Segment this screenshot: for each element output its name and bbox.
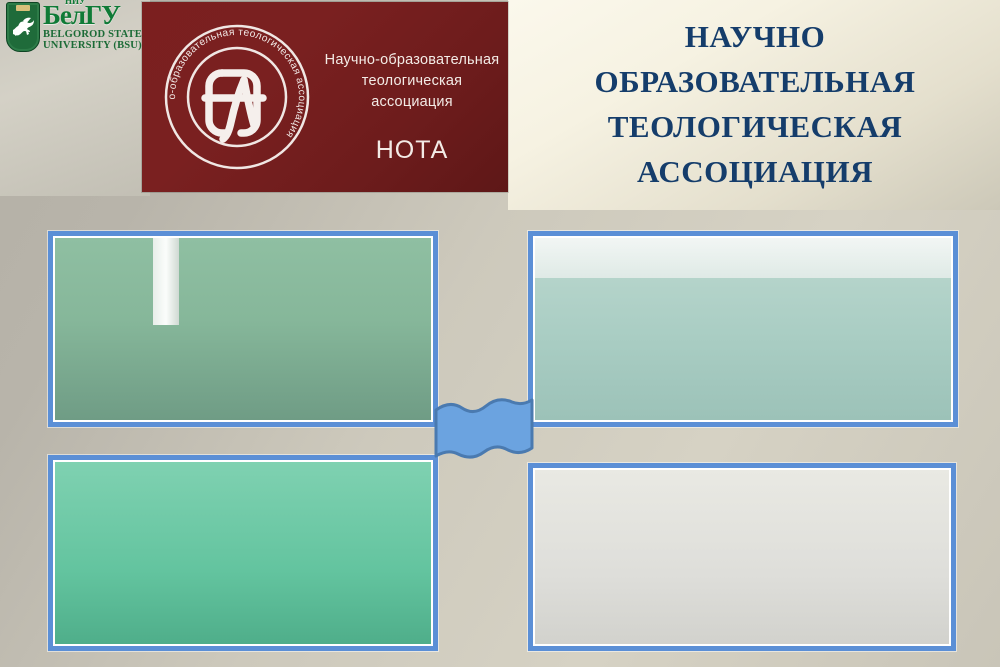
photo-auditorium-audience: FOR bbox=[48, 231, 438, 427]
bsu-english-line-1: BELGOROD STATE bbox=[43, 29, 142, 40]
shield-icon bbox=[6, 2, 40, 52]
photo-group-in-hall bbox=[528, 231, 958, 427]
bsu-english-line-2: UNIVERSITY (BSU) bbox=[43, 40, 142, 51]
bsu-short-name: НИУ БелГУ bbox=[43, 2, 142, 29]
photo-round-table-image bbox=[55, 462, 431, 644]
title-line-2: ОБРАЗОВАТЕЛЬНАЯ bbox=[512, 59, 998, 104]
photo-classroom-group-image: И.о. зав. каф. bbox=[535, 470, 949, 644]
photo-round-table bbox=[48, 455, 438, 651]
nota-line-2: теологическая ассоциация bbox=[322, 71, 502, 113]
blue-wave-flag-ornament bbox=[432, 396, 536, 470]
title-line-4: АССОЦИАЦИЯ bbox=[512, 149, 998, 194]
bsu-niu-label: НИУ bbox=[65, 0, 86, 6]
nota-abbreviation: НОТА bbox=[322, 135, 502, 165]
photo-group-in-hall-image bbox=[535, 238, 951, 420]
nota-text-block: Научно-образовательная теологическая асс… bbox=[322, 50, 502, 165]
slide-canvas: НИУ БелГУ BELGOROD STATE UNIVERSITY (BSU… bbox=[0, 0, 1000, 667]
nota-banner: Научно-образовательная теологическая асс… bbox=[142, 2, 508, 192]
pegasus-icon bbox=[10, 13, 36, 39]
belgorod-state-university-logo: НИУ БелГУ BELGOROD STATE UNIVERSITY (BSU… bbox=[6, 2, 148, 54]
page-title: НАУЧНО ОБРАЗОВАТЕЛЬНАЯ ТЕОЛОГИЧЕСКАЯ АСС… bbox=[512, 14, 998, 194]
title-line-1: НАУЧНО bbox=[512, 14, 998, 59]
nota-line-1: Научно-образовательная bbox=[322, 50, 502, 71]
nota-emblem-icon: Научно-образовательная теологическая асс… bbox=[160, 20, 314, 174]
photo-auditorium-audience-image: FOR bbox=[55, 238, 431, 420]
crown-icon bbox=[16, 5, 30, 11]
photo-classroom-group: И.о. зав. каф. bbox=[528, 463, 956, 651]
title-line-3: ТЕОЛОГИЧЕСКАЯ bbox=[512, 104, 998, 149]
